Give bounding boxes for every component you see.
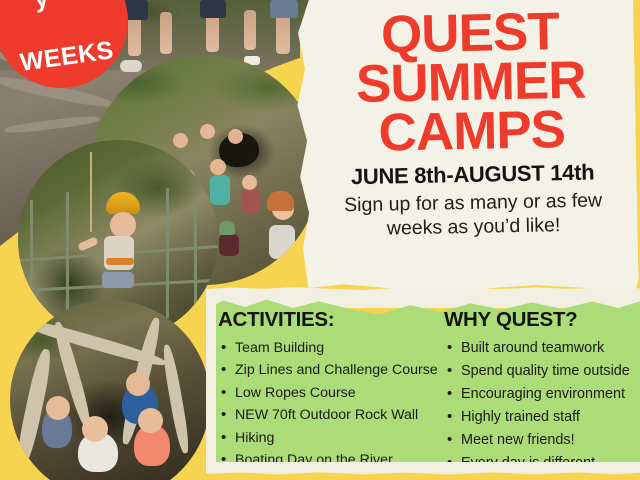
summer-camp-flyer: y WEEKS QUEST SUMMER CAMPS JUNE 8th-AUGU… (0, 0, 640, 480)
camper-shorts (102, 272, 134, 288)
list-item: Highly trained staff (444, 406, 636, 429)
why-quest-heading: WHY QUEST? (444, 308, 636, 332)
list-item: Built around teamwork (444, 337, 636, 360)
camper-face (126, 372, 150, 396)
camper-face (110, 212, 136, 238)
badge-partial-text: y (32, 0, 50, 15)
why-quest-list: Built around teamwork Spend quality time… (444, 337, 636, 475)
signup-subtext: Sign up for as many or as few weeks as y… (323, 189, 624, 242)
photo-tree-hollow (10, 300, 210, 480)
list-item: NEW 70ft Outdoor Rock Wall (218, 404, 436, 426)
activities-list: Team Building Zip Lines and Challenge Co… (218, 337, 436, 472)
camper-face (228, 129, 243, 144)
list-item: Meet new friends! (444, 429, 636, 452)
list-item: Encouraging environment (444, 383, 636, 406)
camper (219, 234, 239, 256)
activities-column: ACTIVITIES: Team Building Zip Lines and … (218, 308, 436, 472)
list-item: Zip Lines and Challenge Course (218, 359, 436, 381)
camper-face (242, 175, 257, 190)
camper-face (46, 396, 70, 420)
activities-heading: ACTIVITIES: (218, 308, 436, 332)
list-item: Team Building (218, 337, 436, 359)
camp-dates: JUNE 8th-AUGUST 14th (322, 159, 622, 191)
camper-cap (219, 221, 235, 235)
list-item: Low Ropes Course (218, 382, 436, 404)
rope-vertical (166, 188, 169, 318)
list-item: Hiking (218, 427, 436, 449)
why-quest-column: WHY QUEST? Built around teamwork Spend q… (444, 308, 636, 475)
green-panel-left-edge (206, 292, 216, 480)
list-item: Spend quality time outside (444, 360, 636, 383)
belay-line (90, 152, 92, 232)
camper (269, 225, 295, 259)
camper-face (138, 408, 163, 433)
camper-hair (267, 191, 294, 211)
camper (242, 188, 260, 214)
camper-face (82, 416, 108, 442)
climbing-harness (106, 258, 134, 265)
headline-paper-panel: QUEST SUMMER CAMPS JUNE 8th-AUGUST 14th … (289, 0, 639, 297)
